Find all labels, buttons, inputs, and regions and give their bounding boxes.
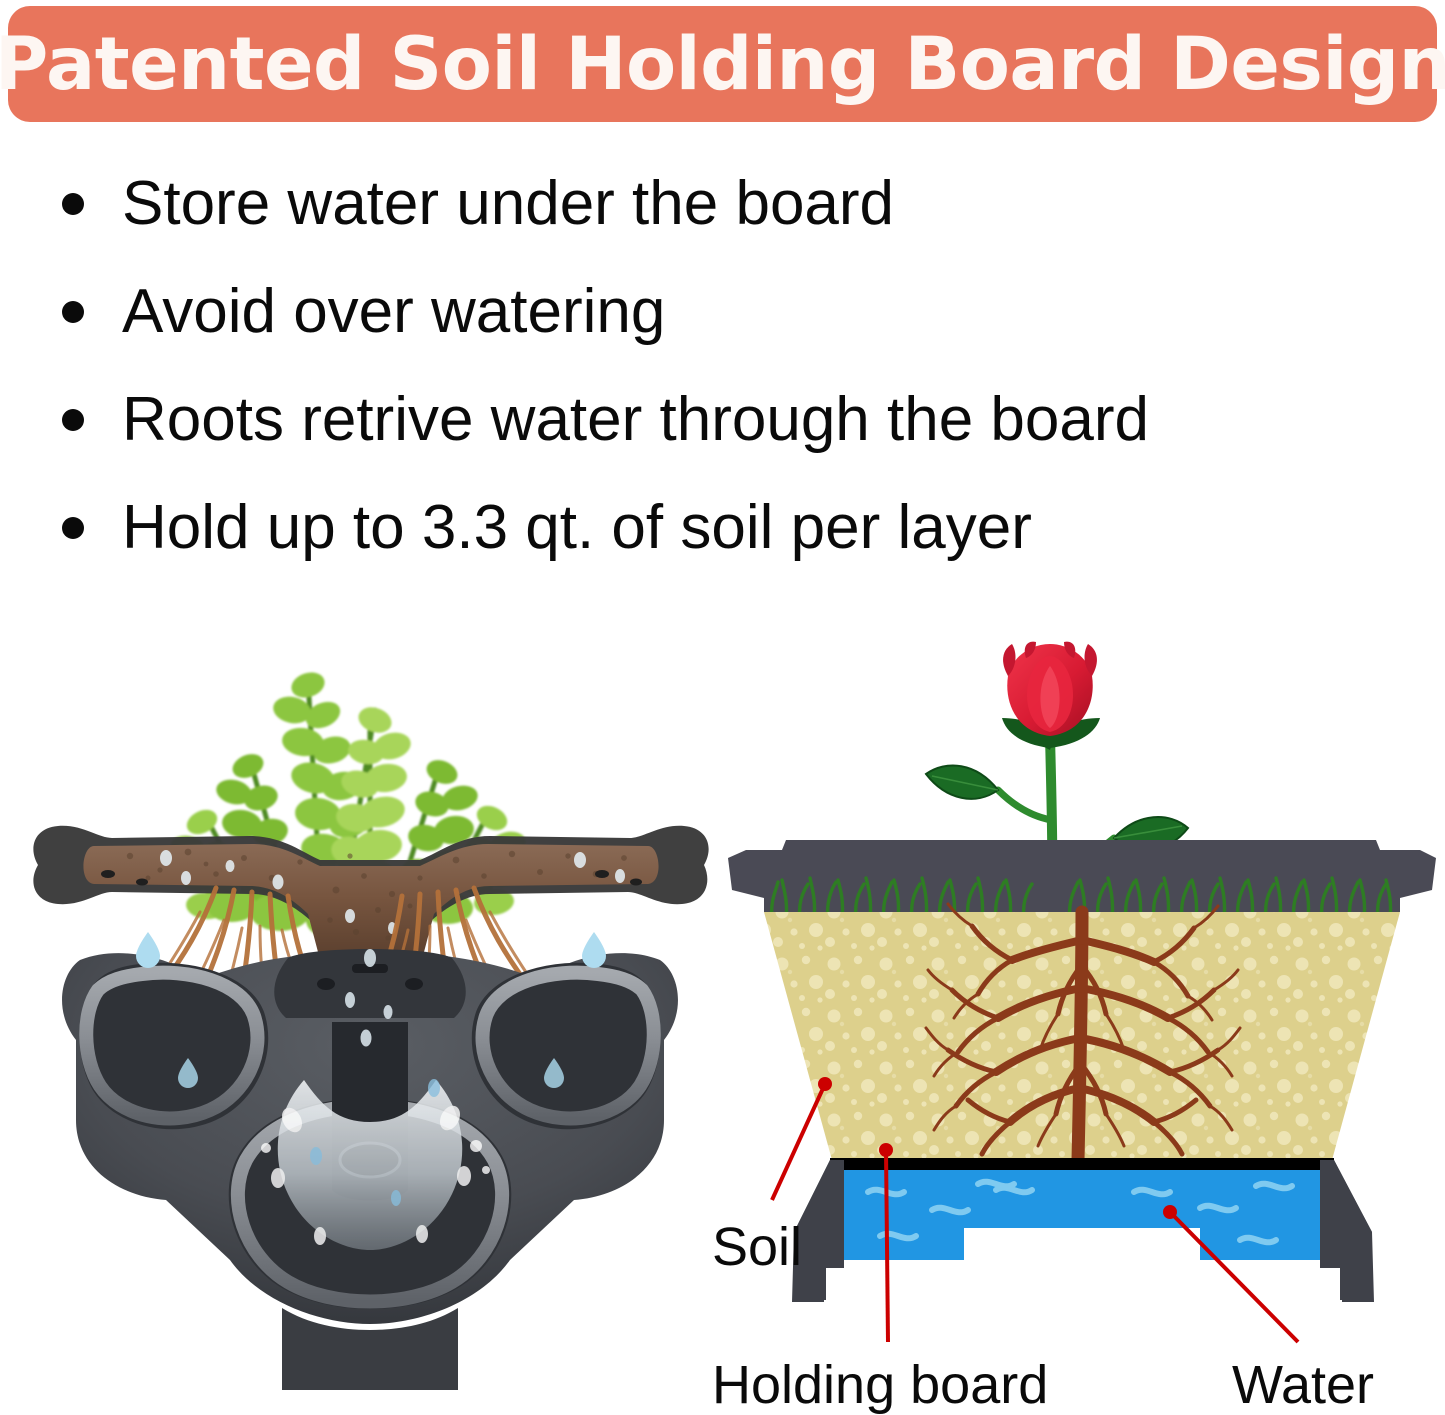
bullet-label: Hold up to 3.3 qt. of soil per layer [122,495,1032,560]
bullet-dot-icon [62,193,84,215]
callout-label-soil: Soil [712,1220,802,1274]
bullet-label: Store water under the board [122,171,894,236]
list-item: Store water under the board [0,150,1445,258]
page-title: Patented Soil Holding Board Design [0,28,1445,101]
stackable-planter-photo [20,560,720,1390]
figures-area [0,560,1445,1415]
header-banner: Patented Soil Holding Board Design [8,6,1437,122]
list-item: Roots retrive water through the board [0,366,1445,474]
list-item: Avoid over watering [0,258,1445,366]
bullet-dot-icon [62,301,84,323]
feature-bullet-list: Store water under the board Avoid over w… [0,150,1445,582]
bullet-label: Roots retrive water through the board [122,387,1149,452]
bullet-dot-icon [62,517,84,539]
bullet-dot-icon [62,409,84,431]
holding-board [830,1158,1334,1170]
callout-label-holding-board: Holding board [712,1358,1048,1412]
planter-cross-section [720,640,1445,1360]
callout-label-water: Water [1232,1358,1374,1412]
infographic-page: Patented Soil Holding Board Design Store… [0,0,1445,1415]
bullet-label: Avoid over watering [122,279,665,344]
